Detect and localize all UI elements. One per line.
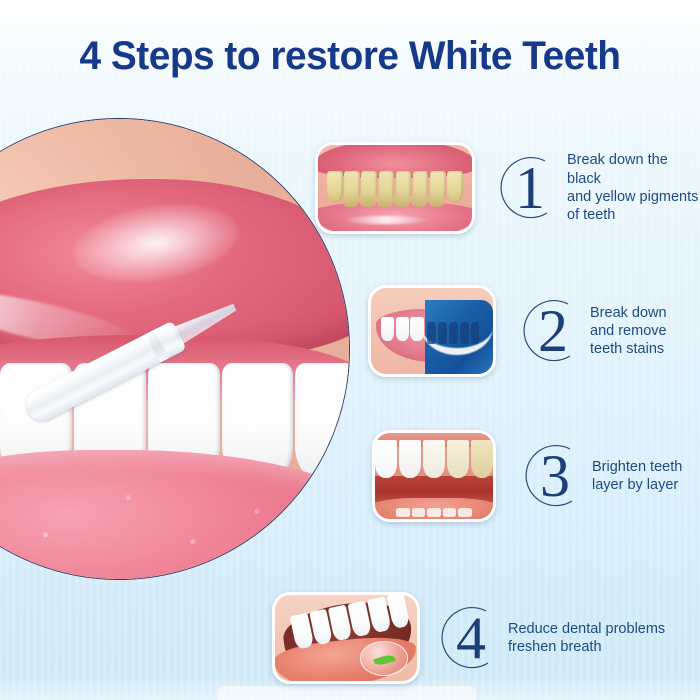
step-4-number: 4	[438, 605, 504, 671]
step-2-number: 2	[520, 298, 586, 364]
hero-lower-lip-texture	[0, 459, 349, 580]
step-3-numeral-badge: 3	[522, 443, 588, 509]
step-3-thumbnail	[372, 430, 496, 522]
step-item-1: 1 Break down the black and yellow pigmen…	[315, 142, 700, 234]
step-item-2: 2 Break down and remove teeth stains	[368, 285, 667, 377]
step-item-3: 3 Brighten teeth layer by layer	[372, 430, 682, 522]
step-2-description: Break down and remove teeth stains	[590, 304, 667, 359]
step-4-numeral-badge: 4	[438, 605, 504, 671]
step-1-lower-teeth	[343, 195, 445, 207]
step-3-lower-teeth	[396, 508, 472, 517]
step-3-description: Brighten teeth layer by layer	[592, 458, 682, 495]
step-4-thumbnail	[272, 592, 420, 684]
step-1-thumbnail	[315, 142, 475, 234]
step-1-description: Break down the black and yellow pigments…	[567, 151, 700, 224]
poster-root: 4 Steps to restore White Teeth	[0, 0, 700, 700]
step-1-lip-highlight	[343, 216, 429, 225]
step-2-thumbnail	[368, 285, 496, 377]
step-3-number: 3	[522, 443, 588, 509]
bottom-white-tab	[218, 686, 476, 700]
step-3-teeth-shade-gradient	[375, 440, 493, 478]
step-4-description: Reduce dental problems freshen breath	[508, 620, 665, 657]
step-1-number: 1	[497, 155, 563, 221]
step-1-numeral-badge: 1	[497, 155, 563, 221]
step-item-4: 4 Reduce dental problems freshen breath	[272, 592, 665, 684]
mint-leaf-icon	[373, 653, 396, 668]
page-title: 4 Steps to restore White Teeth	[11, 34, 690, 79]
step-4-fresh-breath-bubble	[360, 641, 408, 675]
step-2-stain-markers	[427, 322, 479, 344]
step-2-blue-overlay	[425, 300, 493, 374]
step-2-numeral-badge: 2	[520, 298, 586, 364]
